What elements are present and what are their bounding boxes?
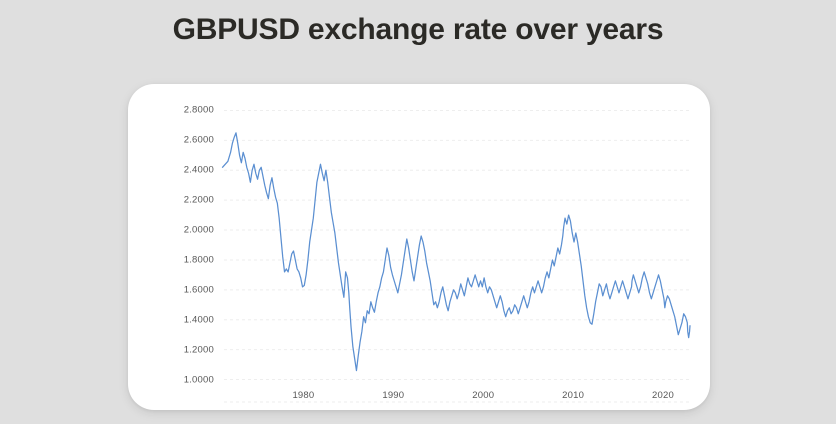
chart-svg	[128, 84, 710, 410]
x-tick-label: 2010	[562, 390, 584, 401]
page-title: GBPUSD exchange rate over years	[0, 10, 836, 50]
x-tick-label: 1980	[292, 390, 314, 401]
x-tick-label: 1990	[382, 390, 404, 401]
x-tick-label: 2020	[652, 390, 674, 401]
series-line-gbpusd	[223, 133, 691, 371]
chart-plot-area: 1.00001.20001.40001.60001.80002.00002.20…	[128, 84, 710, 410]
gridlines	[224, 110, 690, 402]
x-tick-label: 2000	[472, 390, 494, 401]
chart-card: 1.00001.20001.40001.60001.80002.00002.20…	[128, 84, 710, 410]
